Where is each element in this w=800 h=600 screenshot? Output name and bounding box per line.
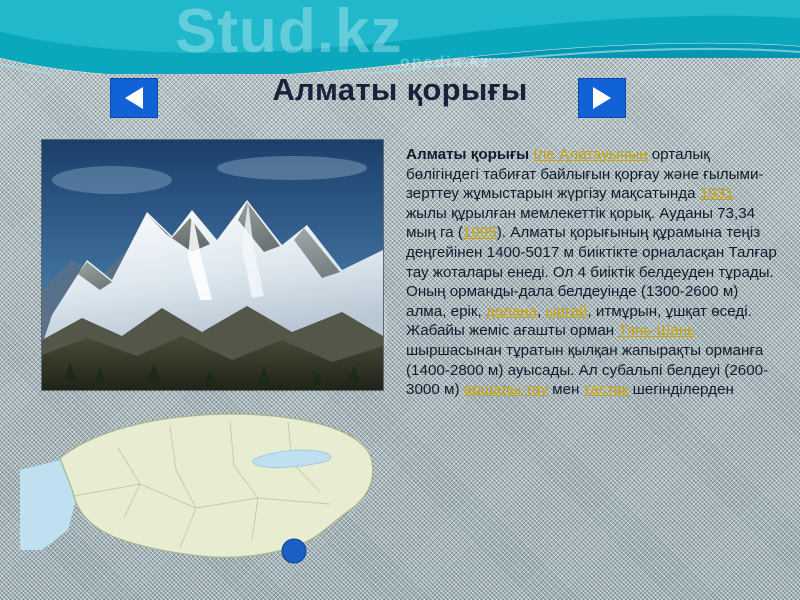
kazakhstan-map <box>20 400 400 600</box>
link-ile-alatau[interactable]: Іле Алатауының <box>533 146 647 163</box>
location-marker-icon <box>282 539 306 563</box>
link-year-1995[interactable]: 1995 <box>463 224 497 241</box>
triangle-right-icon <box>593 87 611 109</box>
link-yrgai[interactable]: ырғай <box>546 303 588 320</box>
link-tien-shan[interactable]: Тянь-Шань <box>618 322 695 339</box>
lead-term: Алматы қорығы <box>406 146 529 163</box>
watermark-subtext: opedia.kz <box>400 54 491 72</box>
link-year-1931[interactable]: 1931 <box>700 185 734 202</box>
text-part-4: , <box>537 303 545 320</box>
next-slide-button[interactable] <box>578 78 626 118</box>
link-tastak[interactable]: тастақ <box>584 381 629 398</box>
text-part-7: мен <box>548 381 584 398</box>
kazakhstan-map-graphic <box>20 400 400 600</box>
body-paragraph: Алматы қорығы Іле Алатауының орталық бөл… <box>406 145 778 400</box>
title-row: Алматы қорығы <box>0 72 800 124</box>
text-part-8: шегінділерден <box>628 381 734 398</box>
slide-root: Stud.kz opedia.kz Stud Stud Алматы қорығ… <box>0 0 800 600</box>
link-arshaly-tau[interactable]: аршалы тау <box>464 381 548 398</box>
mountain-photo-graphic <box>42 140 383 390</box>
mountain-photo <box>41 139 384 391</box>
link-dolana[interactable]: долана <box>486 303 537 320</box>
kazakhstan-land-shape <box>60 414 373 557</box>
